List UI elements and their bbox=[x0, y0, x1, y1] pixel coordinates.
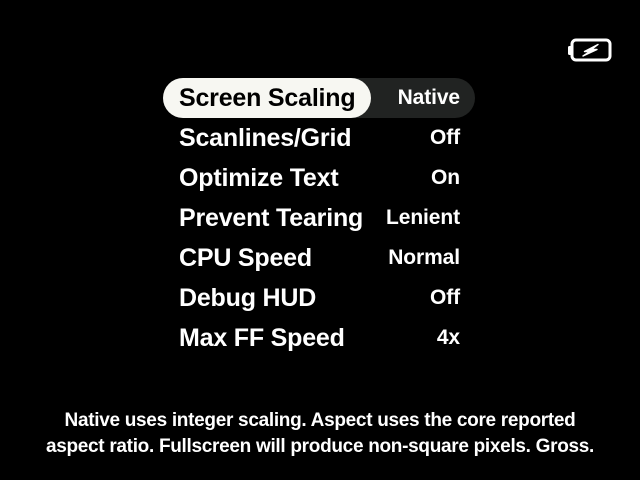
menu-row-value[interactable]: Lenient bbox=[386, 206, 460, 230]
menu-row-label: CPU Speed bbox=[179, 244, 312, 273]
menu-row-value[interactable]: On bbox=[431, 166, 460, 190]
menu-row-label: Prevent Tearing bbox=[179, 204, 363, 233]
menu-row-cpu-speed[interactable]: CPU Speed Normal bbox=[163, 238, 475, 278]
menu-row-max-ff-speed[interactable]: Max FF Speed 4x bbox=[163, 318, 475, 358]
settings-screen: Screen Scaling Native Scanlines/Grid Off… bbox=[0, 0, 640, 480]
menu-row-debug-hud[interactable]: Debug HUD Off bbox=[163, 278, 475, 318]
menu-row-value[interactable]: Normal bbox=[388, 246, 460, 270]
menu-row-value[interactable]: Native bbox=[398, 86, 460, 110]
help-text-line-2: aspect ratio. Fullscreen will produce no… bbox=[0, 434, 640, 460]
menu-row-label: Screen Scaling bbox=[179, 84, 355, 113]
settings-menu-list: Screen Scaling Native Scanlines/Grid Off… bbox=[163, 78, 475, 358]
menu-row-value[interactable]: 4x bbox=[437, 326, 460, 350]
menu-row-label: Debug HUD bbox=[179, 284, 316, 313]
menu-row-screen-scaling[interactable]: Screen Scaling Native bbox=[163, 78, 475, 118]
menu-row-label: Scanlines/Grid bbox=[179, 124, 351, 153]
menu-row-prevent-tearing[interactable]: Prevent Tearing Lenient bbox=[163, 198, 475, 238]
status-bar bbox=[0, 0, 640, 78]
menu-row-label: Optimize Text bbox=[179, 164, 338, 193]
help-text: Native uses integer scaling. Aspect uses… bbox=[0, 408, 640, 460]
help-text-line-1: Native uses integer scaling. Aspect uses… bbox=[0, 408, 640, 434]
battery-charging-icon bbox=[568, 38, 612, 62]
menu-row-scanlines-grid[interactable]: Scanlines/Grid Off bbox=[163, 118, 475, 158]
menu-row-optimize-text[interactable]: Optimize Text On bbox=[163, 158, 475, 198]
menu-row-value[interactable]: Off bbox=[430, 286, 460, 310]
menu-row-value[interactable]: Off bbox=[430, 126, 460, 150]
menu-row-label: Max FF Speed bbox=[179, 324, 345, 353]
